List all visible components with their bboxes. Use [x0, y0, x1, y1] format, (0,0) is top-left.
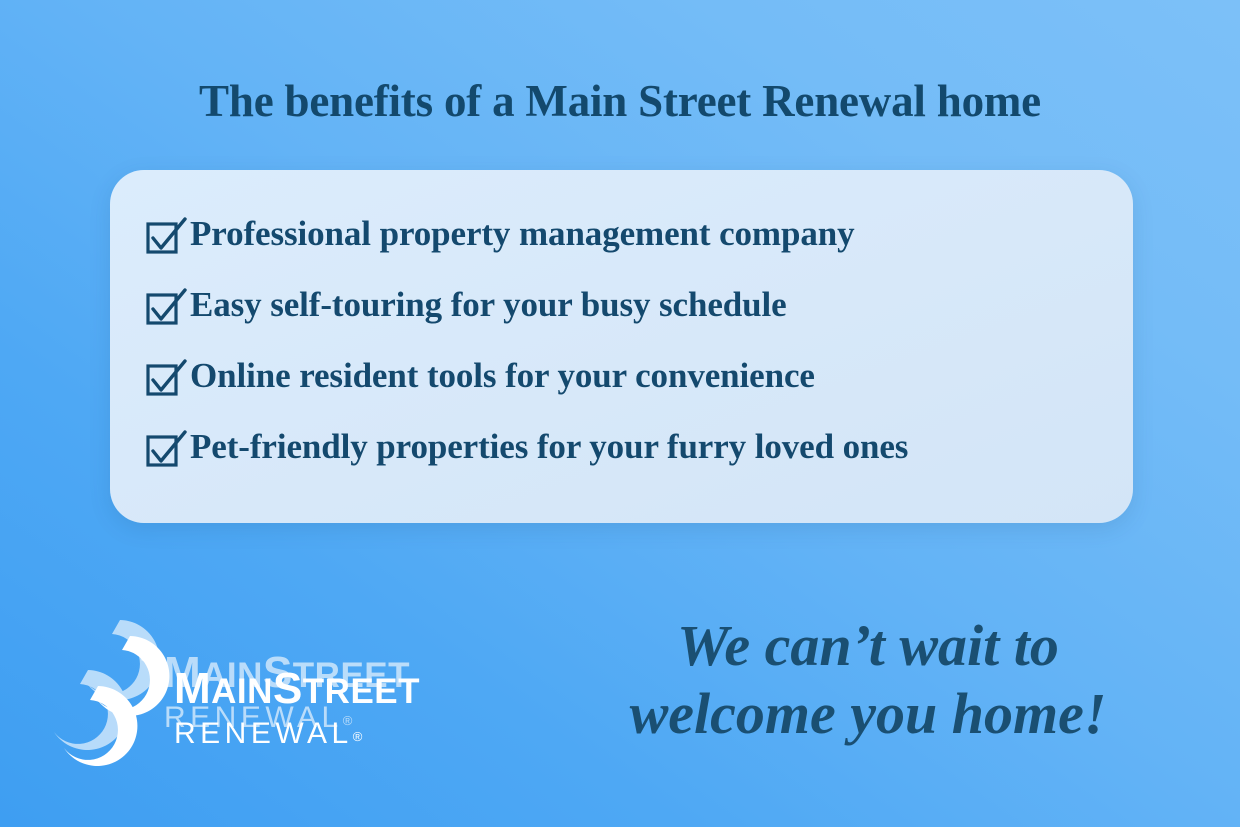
brand-logo: MAINSTREET RENEWAL® MAINSTREET RENEWAL® [52, 628, 522, 788]
checked-checkbox-icon [144, 286, 190, 330]
benefits-card: Professional property management company… [110, 170, 1133, 523]
tagline-line-1: We can’t wait to [548, 612, 1188, 680]
promotional-graphic: The benefits of a Main Street Renewal ho… [0, 0, 1240, 827]
brand-logo-primary-copy: MAINSTREET RENEWAL® [52, 628, 522, 788]
benefits-list: Professional property management company… [144, 212, 1113, 496]
list-item-label: Professional property management company [190, 212, 855, 256]
list-item: Pet-friendly properties for your furry l… [144, 425, 1113, 496]
list-item-label: Easy self-touring for your busy schedule [190, 283, 787, 327]
page-title: The benefits of a Main Street Renewal ho… [0, 72, 1240, 130]
list-item: Online resident tools for your convenien… [144, 354, 1113, 425]
list-item: Professional property management company [144, 212, 1113, 283]
mainstreet-renewal-interlocking-swirl-icon [52, 634, 182, 770]
tagline: We can’t wait to welcome you home! [548, 612, 1188, 748]
brand-wordmark: MAINSTREET RENEWAL® [174, 666, 524, 754]
list-item-label: Online resident tools for your convenien… [190, 354, 815, 398]
brand-wordmark-main: MAINSTREET [174, 666, 524, 715]
list-item: Easy self-touring for your busy schedule [144, 283, 1113, 354]
checked-checkbox-icon [144, 428, 190, 472]
tagline-line-2: welcome you home! [548, 680, 1188, 748]
checked-checkbox-icon [144, 357, 190, 401]
checked-checkbox-icon [144, 215, 190, 259]
list-item-label: Pet-friendly properties for your furry l… [190, 425, 908, 469]
brand-wordmark-sub: RENEWAL® [174, 717, 524, 754]
